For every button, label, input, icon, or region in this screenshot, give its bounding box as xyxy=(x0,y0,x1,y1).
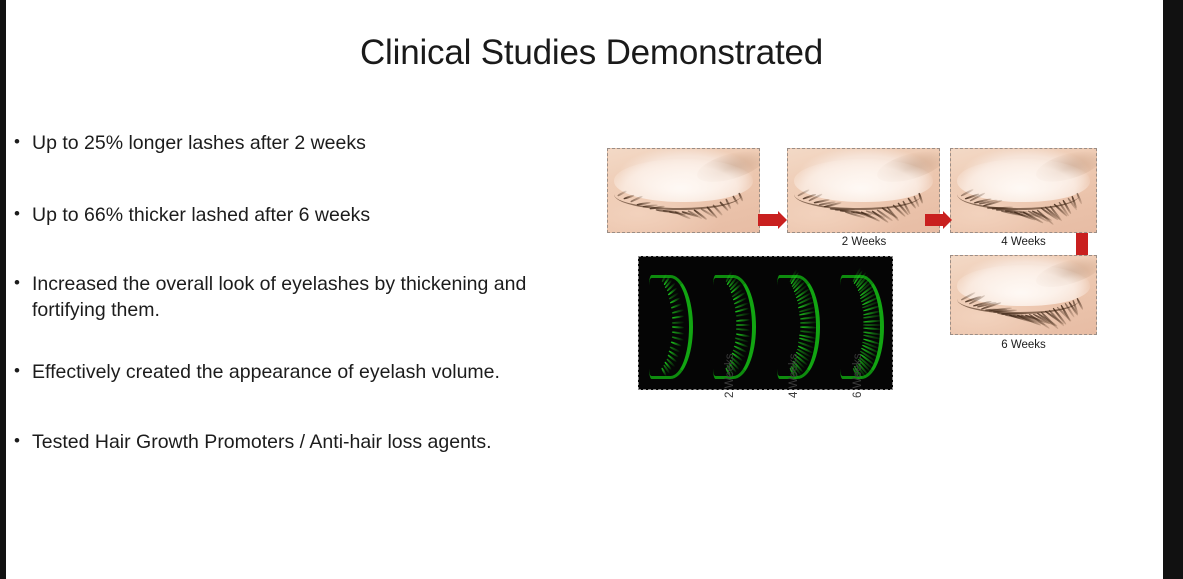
fluorescence-lash-image xyxy=(639,257,703,389)
eye-photo-4weeks xyxy=(950,148,1097,233)
bullet-text: Effectively created the appearance of ey… xyxy=(32,360,574,386)
bullet-text: Up to 25% longer lashes after 2 weeks xyxy=(32,131,574,157)
list-item: • Effectively created the appearance of … xyxy=(14,360,574,386)
list-item: • Up to 66% thicker lashed after 6 weeks xyxy=(14,203,574,229)
list-item: • Increased the overall look of eyelashe… xyxy=(14,272,574,323)
bullet-marker-icon: • xyxy=(14,430,32,452)
eye-illustration xyxy=(951,256,1096,334)
fluorescence-caption-2weeks: 2 Weeks xyxy=(724,353,736,398)
bullet-text: Up to 66% thicker lashed after 6 weeks xyxy=(32,203,574,229)
bullet-text: Tested Hair Growth Promoters / Anti-hair… xyxy=(32,430,574,456)
bullet-marker-icon: • xyxy=(14,131,32,153)
bullet-list: • Up to 25% longer lashes after 2 weeks … xyxy=(14,131,574,455)
fluorescence-lash-spike xyxy=(672,321,684,323)
bullet-marker-icon: • xyxy=(14,203,32,225)
clinical-results-figure: 2 Weeks 4 Weeks 6 Weeks 2 Weeks 4 Weeks … xyxy=(600,140,1160,480)
photo-caption-6weeks: 6 Weeks xyxy=(950,339,1097,351)
bullet-marker-icon: • xyxy=(14,360,32,382)
fluorescence-caption-6weeks: 6 Weeks xyxy=(852,353,864,398)
fluorescence-lash-spike xyxy=(736,324,750,326)
slide-frame-left-edge xyxy=(0,0,6,579)
photo-caption-2weeks: 2 Weeks xyxy=(788,236,940,248)
bullet-marker-icon: • xyxy=(14,272,32,294)
slide-frame-right-edge xyxy=(1163,0,1183,579)
page-title: Clinical Studies Demonstrated xyxy=(0,34,1183,73)
photo-caption-4weeks: 4 Weeks xyxy=(950,236,1097,248)
fluorescence-caption-4weeks: 4 Weeks xyxy=(788,353,800,398)
eye-photo-6weeks xyxy=(950,255,1097,335)
list-item: • Tested Hair Growth Promoters / Anti-ha… xyxy=(14,430,574,456)
bullet-text: Increased the overall look of eyelashes … xyxy=(32,272,574,323)
eye-illustration xyxy=(608,149,759,232)
eye-illustration xyxy=(788,149,939,232)
eye-photo-2weeks xyxy=(787,148,940,233)
list-item: • Up to 25% longer lashes after 2 weeks xyxy=(14,131,574,157)
eye-illustration xyxy=(951,149,1096,232)
eye-photo-baseline xyxy=(607,148,760,233)
slide-canvas: Clinical Studies Demonstrated • Up to 25… xyxy=(0,0,1183,579)
